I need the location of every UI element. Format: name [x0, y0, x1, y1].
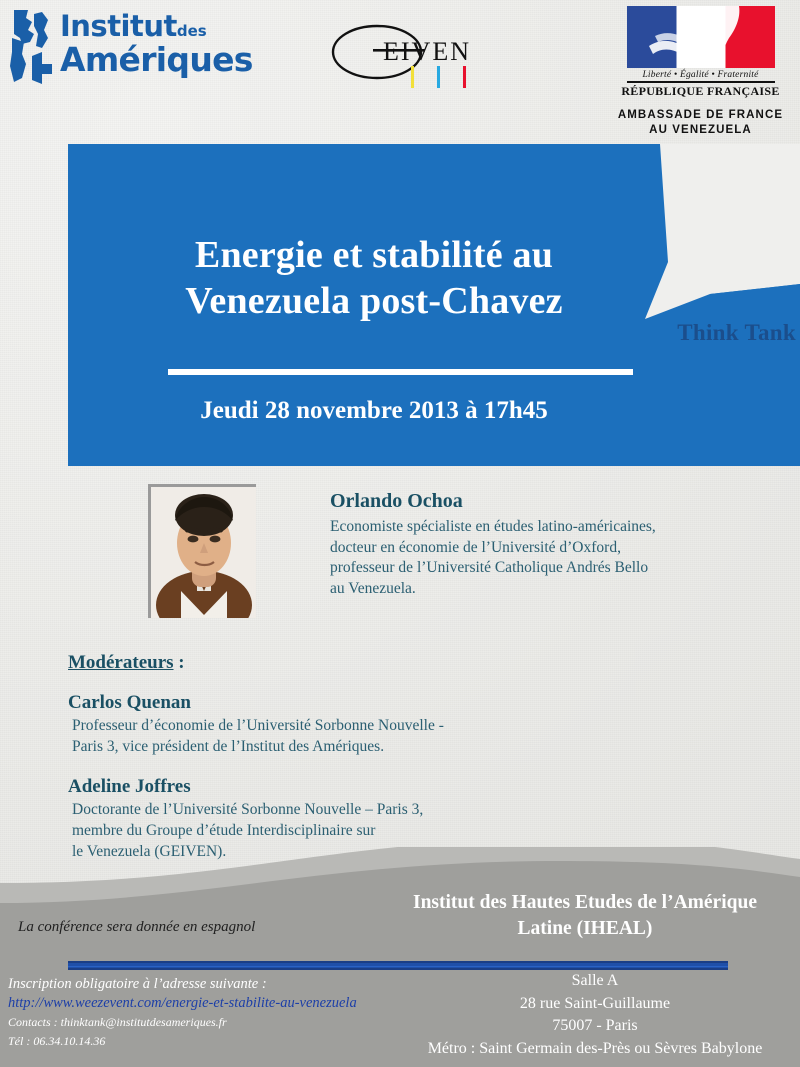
address-line-2: 28 rue Saint-Guillaume	[390, 993, 800, 1016]
republique-francaise-text: RÉPUBLIQUE FRANÇAISE	[608, 84, 793, 99]
address-line-3: 75007 - Paris	[390, 1015, 800, 1038]
ambassade-text: AMBASSADE DE FRANCE AU VENEZUELA	[608, 108, 793, 139]
ambassade-line2: AU VENEZUELA	[608, 123, 793, 139]
moderator-description: Professeur d’économie de l’Université So…	[68, 716, 688, 758]
speaker-name: Orlando Ochoa	[330, 490, 780, 513]
institut-des-ameriques-logo: Institutdes Amériques	[8, 8, 218, 88]
registration-info: Inscription obligatoire à l’adresse suiv…	[8, 975, 388, 1050]
moderators-heading-colon: :	[174, 652, 185, 673]
host-line-1: Institut des Hautes Etudes de l’Amérique	[370, 890, 800, 916]
address-line-1: Salle A	[390, 970, 800, 993]
moderator-desc-line-1: Doctorante de l’Université Sorbonne Nouv…	[72, 800, 688, 821]
speaker-photo-frame	[148, 484, 256, 618]
header-logos: Institutdes Amériques EIVEN	[0, 0, 800, 140]
title-divider	[168, 369, 633, 375]
ida-line1: Institut	[60, 9, 177, 43]
moderator-desc-line-3: le Venezuela (GEIVEN).	[72, 842, 688, 863]
devise-text: Liberté • Égalité • Fraternité	[608, 70, 793, 80]
moderators-section: Modérateurs : Carlos Quenan Professeur d…	[68, 652, 688, 863]
svg-text:EIVEN: EIVEN	[383, 37, 471, 66]
speaker-bio-line-4: au Venezuela.	[330, 579, 780, 600]
ida-wordmark: Institutdes Amériques	[60, 12, 253, 76]
moderators-heading: Modérateurs	[68, 652, 174, 674]
banner-notch-shape	[570, 144, 800, 319]
moderator-desc-line-2: membre du Groupe d’étude Interdisciplina…	[72, 821, 688, 842]
ida-line2: Amériques	[60, 43, 253, 76]
geiven-mark-icon: EIVEN	[325, 22, 490, 92]
divider	[627, 81, 775, 83]
marianne-flag-icon	[627, 6, 775, 68]
ambassade-line1: AMBASSADE DE FRANCE	[608, 108, 793, 124]
moderator-description: Doctorante de l’Université Sorbonne Nouv…	[68, 800, 688, 863]
moderator-desc-line-2: Paris 3, vice président de l’Institut de…	[72, 737, 688, 758]
moderator-item: Carlos Quenan Professeur d’économie de l…	[68, 692, 688, 758]
speaker-bio: Economiste spécialiste en études latino-…	[330, 517, 780, 599]
moderator-item: Adeline Joffres Doctorante de l’Universi…	[68, 776, 688, 863]
ida-des: des	[177, 22, 207, 40]
language-note: La conférence sera donnée en espagnol	[18, 919, 255, 936]
host-institution: Institut des Hautes Etudes de l’Amérique…	[370, 890, 800, 943]
registration-url-link[interactable]: http://www.weezevent.com/energie-et-stab…	[8, 994, 388, 1013]
address-line-4: Métro : Saint Germain des-Près ou Sèvres…	[390, 1038, 800, 1061]
avatar	[151, 487, 256, 618]
moderator-desc-line-1: Professeur d’économie de l’Université So…	[72, 716, 688, 737]
registration-label: Inscription obligatoire à l’adresse suiv…	[8, 975, 388, 994]
moderators-heading-row: Modérateurs :	[68, 652, 688, 674]
portrait-photo-icon	[151, 487, 256, 618]
speaker-bio-line-2: docteur en économie de l’Université d’Ox…	[330, 538, 780, 559]
moderator-name: Adeline Joffres	[68, 776, 688, 798]
venue-address: Salle A 28 rue Saint-Guillaume 75007 - P…	[390, 970, 800, 1061]
event-date: Jeudi 28 novembre 2013 à 17h45	[68, 397, 680, 425]
ambassade-de-france-logo: Liberté • Égalité • Fraternité RÉPUBLIQU…	[608, 6, 793, 131]
speaker-bio-line-3: professeur de l’Université Catholique An…	[330, 558, 780, 579]
footer-divider-bar	[68, 961, 728, 970]
contacts-email[interactable]: Contacts : thinktank@institutdesamerique…	[8, 1015, 388, 1031]
americas-silhouette-icon	[8, 8, 58, 86]
contacts-phone: Tél : 06.34.10.14.36	[8, 1034, 388, 1050]
think-tank-badge: Think Tank	[677, 320, 796, 346]
speaker-details: Orlando Ochoa Economiste spécialiste en …	[330, 490, 780, 599]
event-poster: Institutdes Amériques EIVEN	[0, 0, 800, 1067]
geiven-logo: EIVEN	[325, 22, 490, 92]
host-line-2: Latine (IHEAL)	[370, 916, 800, 942]
title-banner: Think Tank Energie et stabilité au Venez…	[68, 144, 800, 466]
moderator-name: Carlos Quenan	[68, 692, 688, 714]
speaker-bio-line-1: Economiste spécialiste en études latino-…	[330, 517, 780, 538]
